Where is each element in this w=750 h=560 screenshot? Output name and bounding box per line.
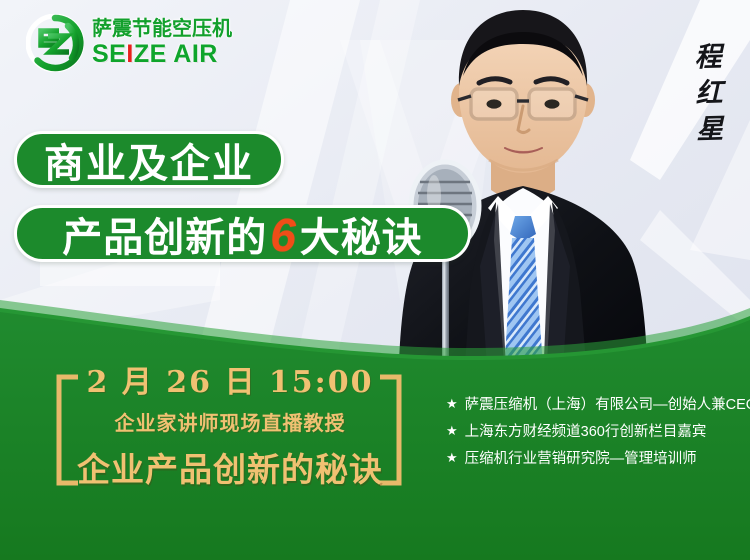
credential-text: 萨震压缩机（上海）有限公司—创始人兼CEO — [465, 396, 750, 414]
speaker-name-char-2: 红 — [695, 80, 723, 108]
credential-text: 上海东方财经频道360行创新栏目嘉宾 — [465, 423, 707, 441]
event-datetime: 2 月 26 日 15:00 — [62, 366, 398, 401]
star-icon: ★ — [446, 396, 458, 413]
logo-en-part1: SE — [92, 40, 126, 68]
headline-number: 6 — [267, 208, 300, 262]
speaker-name-char-3: 星 — [696, 116, 724, 144]
promo-poster: 萨震节能空压机 SEIZE AIR — [0, 0, 750, 560]
star-icon: ★ — [446, 450, 458, 467]
headline-pill-2: 产品创新的6大秘诀 — [14, 205, 471, 262]
headline-pill-1: 商业及企业 — [14, 131, 284, 188]
credentials-list: ★ 萨震压缩机（上海）有限公司—创始人兼CEO ★ 上海东方财经频道360行创新… — [446, 396, 750, 468]
event-subtitle: 企业家讲师现场直播教授 — [62, 407, 398, 436]
credential-item: ★ 压缩机行业营销研究院—管理培训师 — [446, 450, 750, 468]
headline-line-2: 产品创新的6大秘诀 — [62, 205, 423, 263]
logo-en-part2: ZE AIR — [134, 40, 218, 68]
event-copy: 2 月 26 日 15:00 企业家讲师现场直播教授 企业产品创新的秘诀 — [62, 366, 398, 491]
credential-item: ★ 上海东方财经频道360行创新栏目嘉宾 — [446, 423, 750, 441]
credential-item: ★ 萨震压缩机（上海）有限公司—创始人兼CEO — [446, 396, 750, 414]
speaker-name-char-1: 程 — [694, 44, 722, 72]
credential-text: 压缩机行业营销研究院—管理培训师 — [465, 450, 697, 468]
event-topic: 企业产品创新的秘诀 — [62, 443, 398, 491]
speaker-name-vertical: 程 红 星 — [685, 43, 734, 143]
headline-line-1: 商业及企业 — [44, 131, 254, 189]
logo-en-accent: I — [126, 40, 133, 68]
logo-company-en: SEIZE AIR — [92, 42, 232, 67]
logo-company-cn: 萨震节能空压机 — [92, 19, 232, 39]
star-icon: ★ — [446, 423, 458, 440]
sz-logo-icon — [26, 14, 84, 72]
brand-logo: 萨震节能空压机 SEIZE AIR — [26, 14, 232, 72]
headline-line2-before: 产品创新的 — [62, 216, 267, 260]
headline-line2-after: 大秘诀 — [300, 216, 423, 260]
